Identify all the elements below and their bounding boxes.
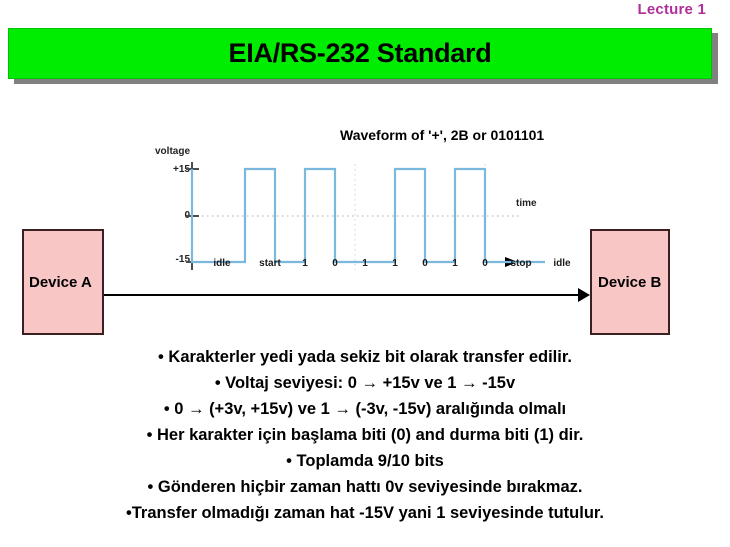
waveform-bit-labels: idle start 1 0 1 1 0 1 0 stop idle: [200, 258, 530, 274]
device-b-label: Device B: [598, 274, 661, 291]
bullet-line: • Gönderen hiçbir zaman hattı 0v seviyes…: [0, 474, 730, 500]
bit-label-bit-6: 1: [452, 258, 458, 269]
device-connector-line: [104, 294, 586, 296]
bit-label-bit-7: 0: [482, 258, 488, 269]
bullet-line: • 0 → (+3v, +15v) ve 1 → (-3v, -15v) ara…: [0, 396, 730, 422]
bullet-line: • Toplamda 9/10 bits: [0, 448, 730, 474]
bit-label-start: start: [259, 258, 281, 269]
bit-label-bit-2: 0: [332, 258, 338, 269]
bit-label-bit-1: 1: [302, 258, 308, 269]
slide-canvas: Lecture 1 EIA/RS-232 Standard Device A D…: [0, 0, 730, 547]
device-a-label: Device A: [29, 274, 92, 291]
device-b-box: Device B: [590, 229, 670, 335]
device-connector-arrow-icon: [578, 288, 590, 302]
bullet-line: • Her karakter için başlama biti (0) and…: [0, 422, 730, 448]
bit-label-stop: stop: [510, 258, 531, 269]
waveform-plot: [150, 120, 580, 280]
bit-label-bit-5: 0: [422, 258, 428, 269]
title-banner: EIA/RS-232 Standard: [8, 28, 712, 79]
page-title: EIA/RS-232 Standard: [229, 38, 492, 69]
bullet-line: • Voltaj seviyesi: 0 → +15v ve 1 → -15v: [0, 370, 730, 396]
bit-label-bit-4: 1: [392, 258, 398, 269]
lecture-tag: Lecture 1: [638, 1, 707, 18]
bullet-list: • Karakterler yedi yada sekiz bit olarak…: [0, 344, 730, 526]
waveform-figure: Waveform of '+', 2B or 0101101 voltage t…: [150, 120, 580, 280]
bullet-line: • Karakterler yedi yada sekiz bit olarak…: [0, 344, 730, 370]
device-a-box: Device A: [22, 229, 104, 335]
bit-label-idle-start: idle: [213, 258, 230, 269]
bullet-line: •Transfer olmadığı zaman hat -15V yani 1…: [0, 500, 730, 526]
bit-label-bit-3: 1: [362, 258, 368, 269]
bit-label-idle-end: idle: [553, 258, 570, 269]
